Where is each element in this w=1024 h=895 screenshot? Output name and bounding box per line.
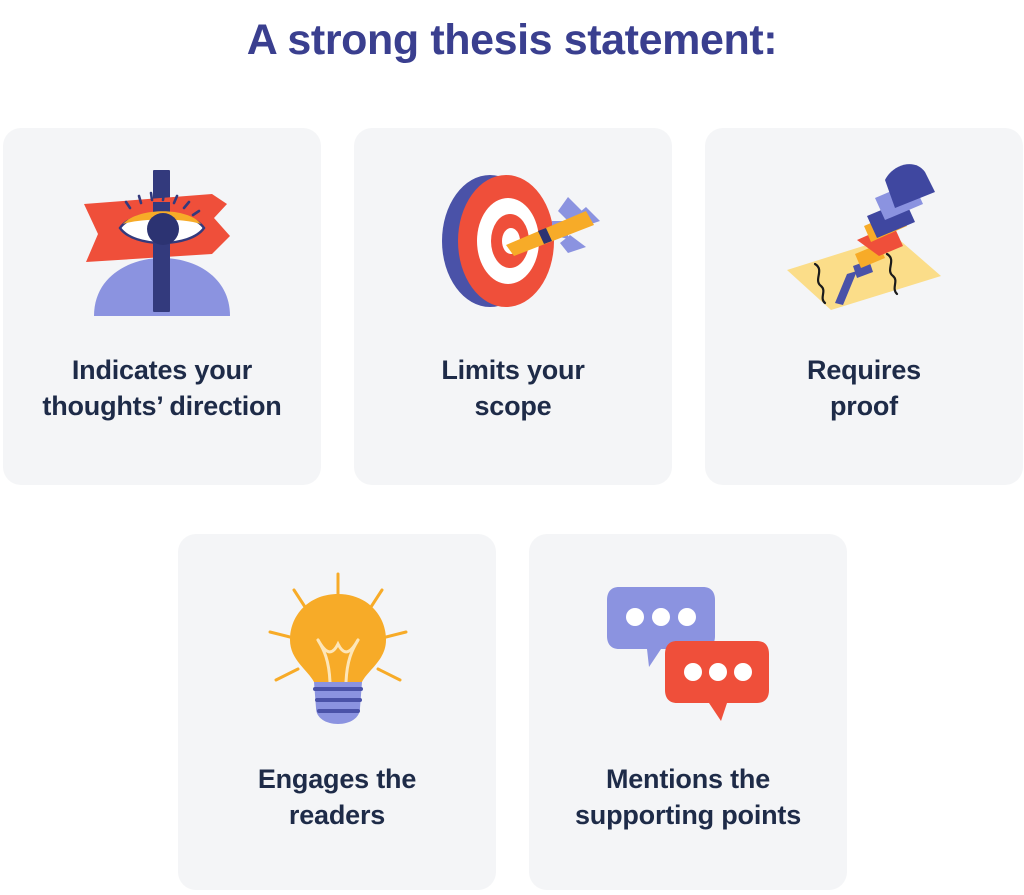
card-indicates-direction[interactable]: Indicates your thoughts’ direction	[3, 128, 321, 485]
card-label: Mentions the supporting points	[529, 762, 847, 834]
page-title: A strong thesis statement:	[0, 16, 1024, 65]
lightbulb-icon	[178, 534, 496, 762]
card-label: Engages the readers	[178, 762, 496, 834]
speech-bubbles-icon	[529, 534, 847, 762]
card-engages-readers[interactable]: Engages the readers	[178, 534, 496, 890]
card-label: Limits your scope	[354, 353, 672, 425]
card-limits-scope[interactable]: Limits your scope	[354, 128, 672, 485]
card-label: Indicates your thoughts’ direction	[3, 353, 321, 425]
signpost-eye-icon	[3, 128, 321, 353]
card-label: Requires proof	[705, 353, 1023, 425]
card-mentions-supporting-points[interactable]: Mentions the supporting points	[529, 534, 847, 890]
highlighter-paper-icon	[705, 128, 1023, 353]
card-requires-proof[interactable]: Requires proof	[705, 128, 1023, 485]
infographic-page: A strong thesis statement:	[0, 0, 1024, 895]
target-arrow-icon	[354, 128, 672, 353]
